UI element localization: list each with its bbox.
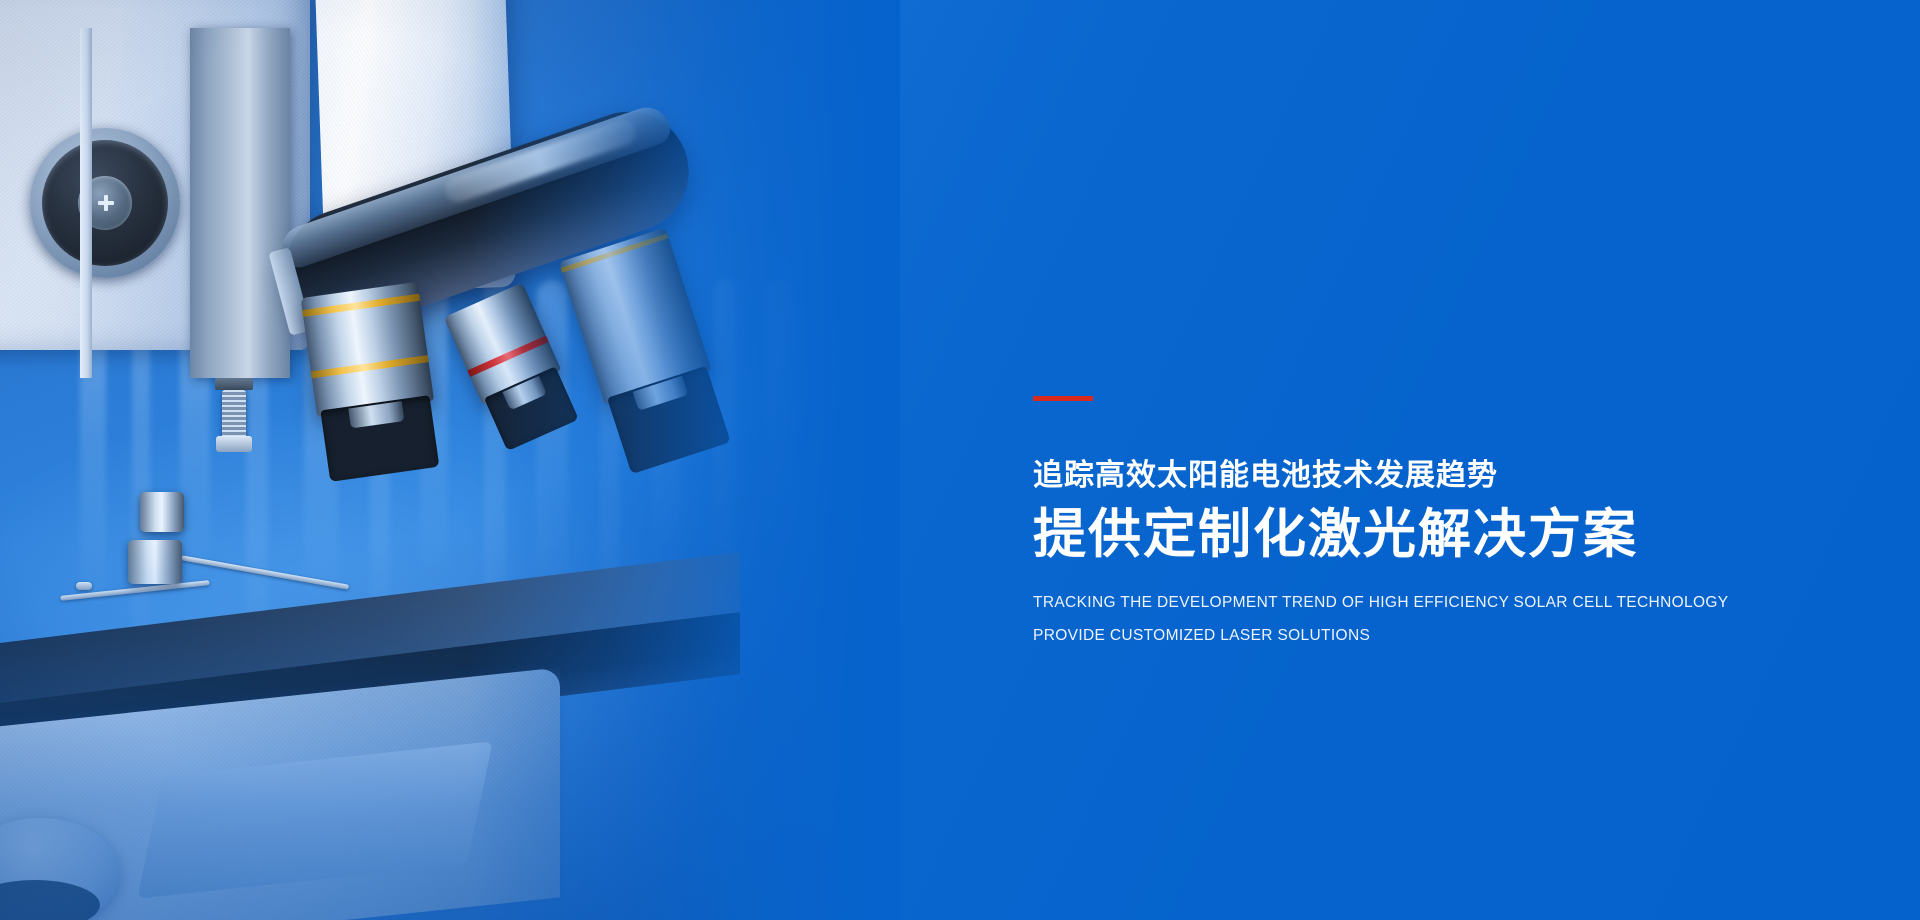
headline-main-cn: 提供定制化激光解决方案 (1033, 504, 1853, 567)
rail-bolt (222, 390, 246, 440)
accent-rule (1033, 396, 1093, 401)
headline-subtitle-en-line-2: PROVIDE CUSTOMIZED LASER SOLUTIONS (1033, 628, 1853, 644)
stage-post-upper (140, 492, 184, 532)
stage-post-lower (128, 540, 182, 584)
objective-color-ring (302, 294, 420, 317)
headline-subtitle-en-group: TRACKING THE DEVELOPMENT TREND OF HIGH E… (1033, 595, 1853, 644)
rail-highlight (80, 28, 92, 378)
objective-lens-yellow (301, 282, 435, 417)
objective-color-ring-2 (311, 355, 429, 378)
hero-content: 追踪高效太阳能电池技术发展趋势 提供定制化激光解决方案 TRACKING THE… (1033, 396, 1853, 644)
headline-subtitle-en-line-1: TRACKING THE DEVELOPMENT TREND OF HIGH E… (1033, 595, 1853, 611)
microscope-rail (190, 28, 290, 378)
stage-clip-arm (60, 560, 360, 610)
hero-banner: 追踪高效太阳能电池技术发展趋势 提供定制化激光解决方案 TRACKING THE… (0, 0, 1920, 920)
screw-icon (98, 195, 114, 211)
headline-subtitle-cn: 追踪高效太阳能电池技术发展趋势 (1033, 459, 1853, 492)
rail-screw (215, 378, 253, 390)
focus-knob (30, 128, 180, 278)
microscope-photo (0, 0, 900, 920)
objective-color-ring (467, 335, 548, 376)
rail-bolt-head (216, 436, 252, 452)
photo-inner (0, 0, 900, 920)
focus-knob-inner (42, 140, 168, 266)
